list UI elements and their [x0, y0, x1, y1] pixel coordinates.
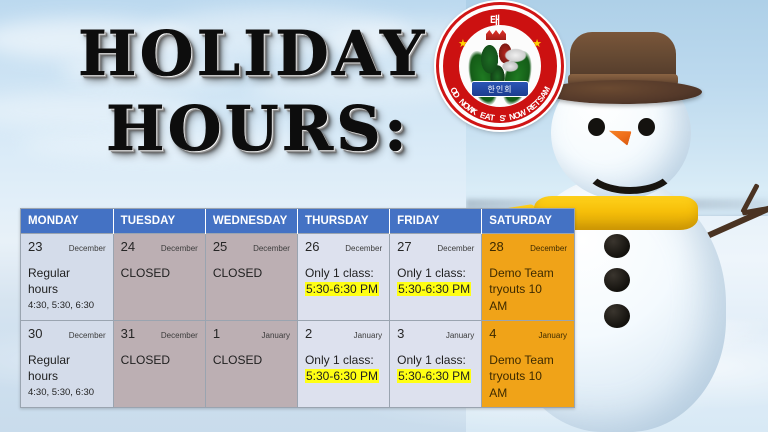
cell-text-line: CLOSED: [121, 352, 198, 368]
highlight-span: 5:30-6:30 PM: [397, 282, 471, 296]
snowman-button-icon: [604, 234, 630, 258]
cell-thursday-week2[interactable]: 2JanuaryOnly 1 class:5:30-6:30 PM: [297, 321, 389, 408]
cell-date-row: 28December: [489, 239, 567, 254]
month-label: December: [161, 244, 198, 253]
master-wons-tae-kwon-do-logo: MASTER WON'S TAE KWON DO 태 ★ ★ 한인회: [436, 2, 564, 130]
cell-wednesday-week2[interactable]: 1JanuaryCLOSED: [205, 321, 297, 408]
cell-body-text: Only 1 class:5:30-6:30 PM: [305, 352, 382, 385]
day-number: 25: [213, 239, 227, 254]
day-number: 26: [305, 239, 319, 254]
day-number: 2: [305, 326, 312, 341]
cell-monday-week1[interactable]: 23DecemberRegularhours4:30, 5:30, 6:30: [21, 234, 113, 321]
day-number: 4: [489, 326, 496, 341]
column-header-thursday: THURSDAY: [297, 209, 389, 234]
cell-content: 27DecemberOnly 1 class:5:30-6:30 PM: [390, 234, 481, 320]
highlight-span: 5:30-6:30 PM: [305, 282, 379, 296]
cell-date-row: 31December: [121, 326, 198, 341]
class-times: 4:30, 5:30, 6:30: [28, 386, 106, 399]
month-label: January: [539, 331, 567, 340]
poster-title: HOLIDAY HOURS:: [78, 24, 478, 160]
day-number: 24: [121, 239, 135, 254]
cell-body-text: Regularhours4:30, 5:30, 6:30: [28, 265, 106, 312]
cell-content: 25DecemberCLOSED: [206, 234, 297, 320]
table-header-row: MONDAY TUESDAY WEDNESDAY THURSDAY FRIDAY…: [21, 209, 574, 234]
cell-text-line: hours: [28, 281, 106, 297]
logo-banner: 한인회: [471, 81, 529, 97]
cell-text-line: tryouts 10: [489, 281, 567, 297]
cell-friday-week1[interactable]: 27DecemberOnly 1 class:5:30-6:30 PM: [390, 234, 482, 321]
month-label: December: [530, 244, 567, 253]
cell-text-line: CLOSED: [121, 265, 198, 281]
cell-text-line: Only 1 class:: [305, 265, 382, 281]
column-header-monday: MONDAY: [21, 209, 113, 234]
month-label: January: [262, 331, 290, 340]
cell-date-row: 25December: [213, 239, 290, 254]
month-label: December: [161, 331, 198, 340]
cell-content: 23DecemberRegularhours4:30, 5:30, 6:30: [21, 234, 113, 320]
cell-text-line: Demo Team: [489, 352, 567, 368]
cell-date-row: 23December: [28, 239, 106, 254]
cell-text-line: CLOSED: [213, 265, 290, 281]
cell-body-text: CLOSED: [121, 352, 198, 368]
cell-text-line: AM: [489, 298, 567, 314]
cell-body-text: CLOSED: [121, 265, 198, 281]
highlighted-class-time: 5:30-6:30 PM: [305, 368, 382, 384]
cell-tuesday-week2[interactable]: 31DecemberCLOSED: [113, 321, 205, 408]
cell-content: 4JanuaryDemo Teamtryouts 10AM: [482, 321, 574, 407]
cell-date-row: 3January: [397, 326, 474, 341]
cell-tuesday-week1[interactable]: 24DecemberCLOSED: [113, 234, 205, 321]
day-number: 27: [397, 239, 411, 254]
cell-saturday-week1[interactable]: 28DecemberDemo Teamtryouts 10AM: [482, 234, 574, 321]
column-header-wednesday: WEDNESDAY: [205, 209, 297, 234]
cell-text-line: AM: [489, 385, 567, 401]
highlight-span: 5:30-6:30 PM: [397, 369, 471, 383]
cell-content: 31DecemberCLOSED: [114, 321, 205, 407]
month-label: December: [345, 244, 382, 253]
cell-content: 2JanuaryOnly 1 class:5:30-6:30 PM: [298, 321, 389, 407]
cell-date-row: 1January: [213, 326, 290, 341]
cell-date-row: 24December: [121, 239, 198, 254]
cell-body-text: Only 1 class:5:30-6:30 PM: [397, 265, 474, 298]
column-header-friday: FRIDAY: [390, 209, 482, 234]
day-number: 23: [28, 239, 42, 254]
eagle-icon: [494, 40, 530, 84]
cell-body-text: CLOSED: [213, 352, 290, 368]
cell-content: 1JanuaryCLOSED: [206, 321, 297, 407]
class-times: 4:30, 5:30, 6:30: [28, 299, 106, 312]
table-row: 30DecemberRegularhours4:30, 5:30, 6:3031…: [21, 321, 574, 408]
snowman-smile-icon: [582, 138, 678, 194]
cell-text-line: Demo Team: [489, 265, 567, 281]
cell-content: 24DecemberCLOSED: [114, 234, 205, 320]
day-number: 30: [28, 326, 42, 341]
logo-arc-letter: S: [499, 113, 505, 123]
cell-body-text: CLOSED: [213, 265, 290, 281]
cell-body-text: Only 1 class:5:30-6:30 PM: [305, 265, 382, 298]
cell-body-text: Regularhours4:30, 5:30, 6:30: [28, 352, 106, 399]
title-line-2: HOURS:: [106, 99, 478, 160]
cell-date-row: 30December: [28, 326, 106, 341]
column-header-saturday: SATURDAY: [482, 209, 574, 234]
month-label: December: [69, 244, 106, 253]
highlighted-class-time: 5:30-6:30 PM: [305, 281, 382, 297]
cell-wednesday-week1[interactable]: 25DecemberCLOSED: [205, 234, 297, 321]
cell-date-row: 27December: [397, 239, 474, 254]
fedora-brim-icon: [544, 80, 702, 104]
cell-body-text: Only 1 class:5:30-6:30 PM: [397, 352, 474, 385]
day-number: 3: [397, 326, 404, 341]
cell-content: 3JanuaryOnly 1 class:5:30-6:30 PM: [390, 321, 481, 407]
cell-monday-week2[interactable]: 30DecemberRegularhours4:30, 5:30, 6:30: [21, 321, 113, 408]
title-line-1: HOLIDAY: [78, 24, 478, 85]
day-number: 1: [213, 326, 220, 341]
poster-canvas: HOLIDAY HOURS: MASTER WON'S TAE KWON DO …: [0, 0, 768, 432]
cell-text-line: Only 1 class:: [305, 352, 382, 368]
cell-saturday-week2[interactable]: 4JanuaryDemo Teamtryouts 10AM: [482, 321, 574, 408]
snowman-eye-icon: [638, 118, 655, 136]
highlighted-class-time: 5:30-6:30 PM: [397, 281, 474, 297]
snowman-eye-icon: [588, 118, 605, 136]
cell-text-line: CLOSED: [213, 352, 290, 368]
highlighted-class-time: 5:30-6:30 PM: [397, 368, 474, 384]
month-label: January: [354, 331, 382, 340]
cell-content: 26DecemberOnly 1 class:5:30-6:30 PM: [298, 234, 389, 320]
month-label: January: [446, 331, 474, 340]
table-body: 23DecemberRegularhours4:30, 5:30, 6:3024…: [21, 234, 574, 408]
snowman-button-icon: [604, 304, 630, 328]
cell-date-row: 4January: [489, 326, 567, 341]
crown-icon: [486, 30, 506, 40]
cell-text-line: Only 1 class:: [397, 352, 474, 368]
cell-text-line: Regular: [28, 265, 106, 281]
cell-text-line: Only 1 class:: [397, 265, 474, 281]
cell-body-text: Demo Teamtryouts 10AM: [489, 352, 567, 401]
cell-thursday-week1[interactable]: 26DecemberOnly 1 class:5:30-6:30 PM: [297, 234, 389, 321]
holiday-hours-table: MONDAY TUESDAY WEDNESDAY THURSDAY FRIDAY…: [20, 208, 575, 408]
cell-text-line: Regular: [28, 352, 106, 368]
cell-content: 28DecemberDemo Teamtryouts 10AM: [482, 234, 574, 320]
month-label: December: [253, 244, 290, 253]
cell-date-row: 2January: [305, 326, 382, 341]
logo-inner-disc: 한인회: [460, 26, 540, 106]
month-label: December: [437, 244, 474, 253]
month-label: December: [69, 331, 106, 340]
snowman-button-icon: [604, 268, 630, 292]
cell-date-row: 26December: [305, 239, 382, 254]
highlight-span: 5:30-6:30 PM: [305, 369, 379, 383]
cell-body-text: Demo Teamtryouts 10AM: [489, 265, 567, 314]
cell-text-line: tryouts 10: [489, 368, 567, 384]
cell-text-line: hours: [28, 368, 106, 384]
day-number: 31: [121, 326, 135, 341]
table-row: 23DecemberRegularhours4:30, 5:30, 6:3024…: [21, 234, 574, 321]
column-header-tuesday: TUESDAY: [113, 209, 205, 234]
cell-content: 30DecemberRegularhours4:30, 5:30, 6:30: [21, 321, 113, 407]
cell-friday-week2[interactable]: 3JanuaryOnly 1 class:5:30-6:30 PM: [390, 321, 482, 408]
day-number: 28: [489, 239, 503, 254]
